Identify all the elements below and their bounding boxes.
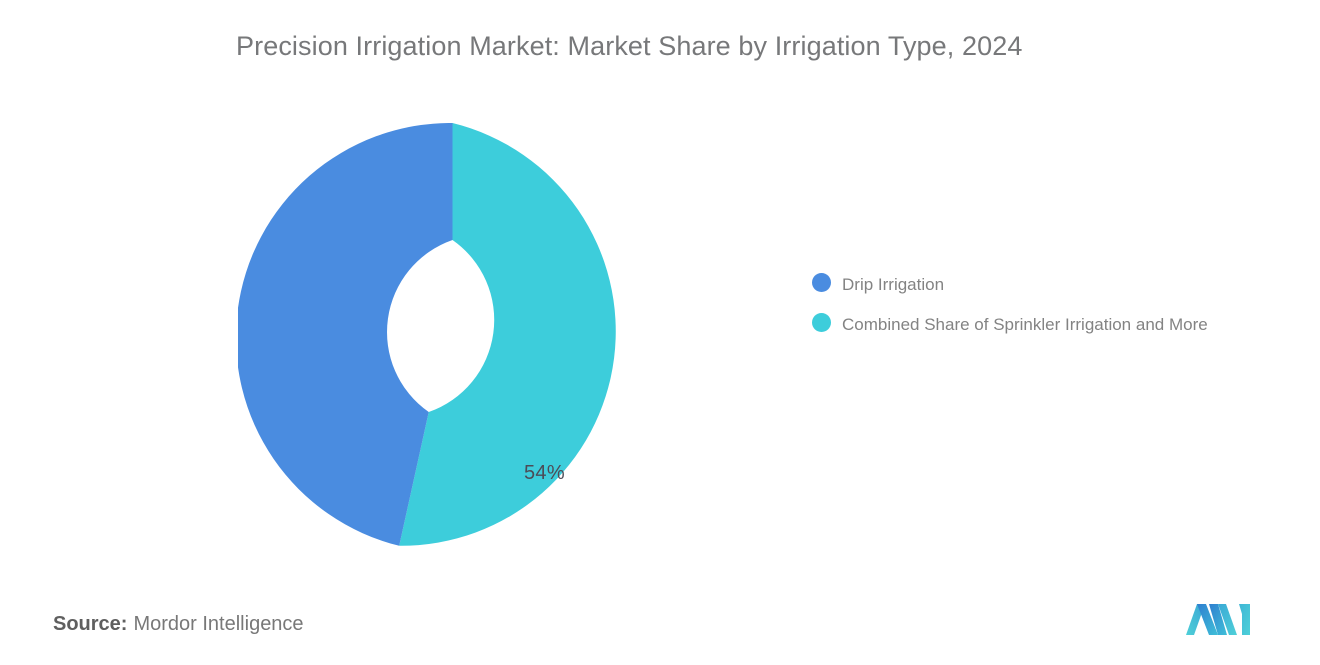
mordor-intelligence-logo-icon (1184, 600, 1256, 640)
legend-swatch-icon (812, 313, 831, 332)
legend-swatch-icon (812, 273, 831, 292)
source-value: Mordor Intelligence (133, 613, 303, 635)
legend-item-drip-irrigation[interactable]: Drip Irrigation (812, 271, 1242, 299)
source-line: Source:Mordor Intelligence (53, 613, 304, 636)
donut-chart: 54% (238, 123, 667, 552)
chart-legend: Drip Irrigation Combined Share of Sprink… (812, 271, 1242, 350)
donut-data-label-drip-irrigation: 54% (524, 462, 565, 485)
source-label: Source: (53, 613, 127, 635)
donut-chart-svg (238, 123, 667, 552)
legend-item-label: Combined Share of Sprinkler Irrigation a… (842, 311, 1208, 339)
legend-item-combined-share-of-sprinkler-irrigation-and-more[interactable]: Combined Share of Sprinkler Irrigation a… (812, 311, 1242, 339)
mi-logo-svg (1184, 600, 1256, 640)
page-title: Precision Irrigation Market: Market Shar… (236, 31, 1022, 62)
legend-item-label: Drip Irrigation (842, 271, 944, 299)
